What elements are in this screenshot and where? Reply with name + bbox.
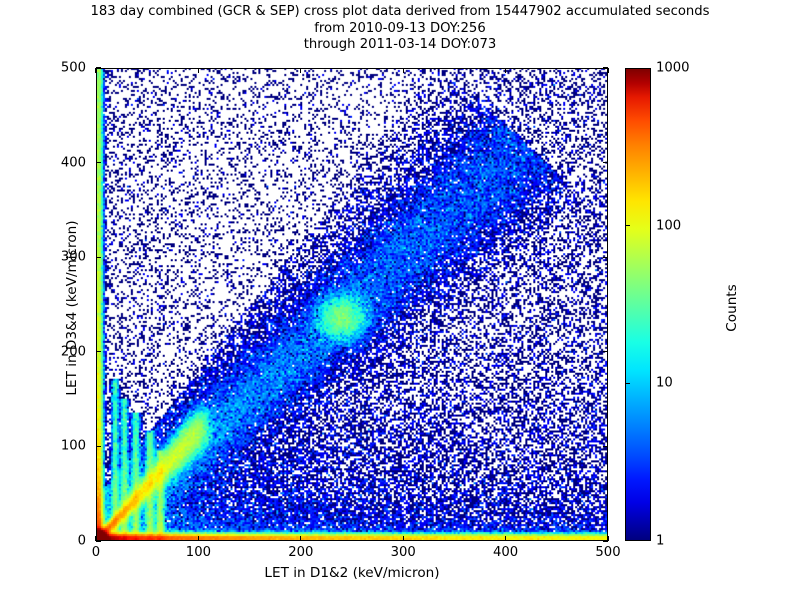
x-tick-mark <box>95 68 96 73</box>
x-tick-label: 300 <box>391 545 416 560</box>
x-tick-mark <box>300 536 301 541</box>
colorbar-tick-label: 100 <box>656 218 681 233</box>
colorbar <box>625 68 651 541</box>
x-tick-mark <box>607 68 608 73</box>
x-tick-label: 400 <box>493 545 518 560</box>
x-tick-label: 0 <box>92 545 100 560</box>
title-line-3: through 2011-03-14 DOY:073 <box>0 37 800 54</box>
x-tick-label: 100 <box>186 545 211 560</box>
title-line-1: 183 day combined (GCR & SEP) cross plot … <box>0 4 800 21</box>
title-line-2: from 2010-09-13 DOY:256 <box>0 21 800 38</box>
x-tick-mark <box>505 68 506 73</box>
x-tick-label: 500 <box>595 545 620 560</box>
plot-area <box>96 68 608 541</box>
y-tick-mark <box>603 162 608 163</box>
x-tick-label: 200 <box>288 545 313 560</box>
colorbar-title: Counts <box>724 188 740 428</box>
x-tick-mark <box>198 536 199 541</box>
x-axis-title: LET in D1&2 (keV/micron) <box>96 565 608 581</box>
x-tick-mark <box>300 68 301 73</box>
colorbar-tick-label: 1000 <box>656 61 690 76</box>
x-tick-mark <box>505 536 506 541</box>
colorbar-gradient <box>625 68 651 541</box>
colorbar-tick-mark <box>625 383 630 384</box>
y-tick-mark <box>603 257 608 258</box>
y-axis-title: LET in D3&4 (keV/micron) <box>64 68 80 548</box>
x-tick-mark <box>198 68 199 73</box>
y-tick-mark <box>96 351 101 352</box>
x-tick-mark <box>403 68 404 73</box>
figure-title: 183 day combined (GCR & SEP) cross plot … <box>0 4 800 54</box>
y-tick-mark <box>96 446 101 447</box>
y-tick-mark <box>96 257 101 258</box>
figure-root: 183 day combined (GCR & SEP) cross plot … <box>0 0 800 600</box>
y-tick-mark <box>603 351 608 352</box>
x-tick-mark <box>403 536 404 541</box>
y-tick-mark <box>96 540 101 541</box>
density-heatmap-canvas <box>97 69 607 540</box>
y-tick-mark <box>603 67 608 68</box>
colorbar-tick-mark <box>625 225 630 226</box>
colorbar-tick-label: 1 <box>656 534 664 549</box>
y-tick-mark <box>603 540 608 541</box>
colorbar-tick-label: 10 <box>656 376 673 391</box>
y-tick-mark <box>96 67 101 68</box>
y-tick-mark <box>603 446 608 447</box>
y-tick-mark <box>96 162 101 163</box>
